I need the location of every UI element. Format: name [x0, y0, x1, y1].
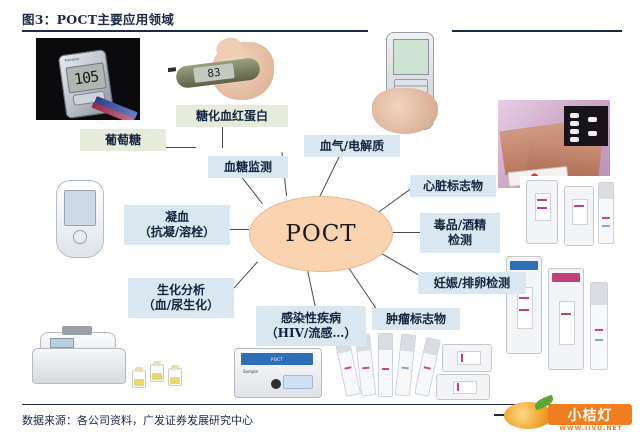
node-label-secondary: （抗凝/溶栓）: [139, 225, 215, 240]
photo-bench-analyzer: [26, 318, 138, 394]
node-hba1c[interactable]: 糖化血红蛋白: [176, 105, 288, 127]
film-band: [588, 131, 597, 136]
node-tumor-markers[interactable]: 肿瘤标志物: [372, 308, 460, 330]
glucometer-brand-text: Precision: [64, 57, 80, 63]
photo-pregnancy-cassette: [520, 176, 616, 248]
film-band: [570, 137, 579, 142]
handheld-display: 83: [193, 63, 235, 83]
center-label: POCT: [285, 221, 356, 247]
test-cassette: [564, 186, 594, 246]
node-glucose[interactable]: 葡萄糖: [80, 129, 166, 151]
node-blood-gas-electrolytes[interactable]: 血气/电解质: [304, 135, 400, 157]
test-cassette: [526, 180, 558, 244]
node-cardiac-markers[interactable]: 心脏标志物: [410, 175, 496, 197]
strip-test-line: [344, 366, 352, 369]
node-label: 凝血: [165, 210, 189, 225]
page-title: 图3：POCT主要应用领域: [22, 9, 174, 28]
strip-cap: [401, 334, 416, 351]
test-cassette: [548, 268, 584, 370]
coag-device-screen: [64, 190, 96, 226]
reagent-vial: [168, 368, 182, 386]
strip-control-line: [602, 225, 610, 227]
test-cassette: [506, 256, 542, 354]
node-label: 毒品/酒精: [434, 218, 486, 233]
analyzer-display: [50, 338, 74, 348]
analyzer-holding-hand: [372, 88, 438, 134]
watermark-url: WWW.IIVD.NET: [550, 425, 632, 432]
connector-line: [380, 252, 420, 276]
node-infectious-disease[interactable]: 感染性疾病 （HIV/流感…）: [256, 306, 366, 346]
analyzer-screen: [393, 39, 429, 75]
strip-test-line: [602, 217, 610, 219]
photo-glucometer: Precision 105: [36, 38, 140, 120]
photo-cartridge-reader: POCT Sample: [228, 340, 332, 402]
result-line: [519, 309, 529, 311]
strip-cap: [591, 283, 607, 305]
result-line: [457, 383, 459, 391]
diagram-center-node[interactable]: POCT: [249, 196, 393, 272]
node-label: 妊娠/排卵检测: [434, 276, 510, 291]
lateral-flow-strip: [395, 333, 416, 396]
node-label: 葡萄糖: [105, 133, 141, 148]
cartridge-result-window: [283, 375, 313, 389]
connector-line: [378, 186, 414, 213]
source-note: 数据来源：各公司资料，广发证券发展研究中心: [22, 412, 253, 428]
node-blood-glucose-monitoring[interactable]: 血糖监测: [208, 156, 288, 178]
lateral-flow-strip: [590, 282, 608, 370]
result-line: [561, 313, 571, 315]
strip-test-line: [362, 367, 369, 370]
connector-line: [347, 266, 377, 310]
coag-device-button: [73, 230, 87, 244]
photo-portable-analyzer: [368, 28, 452, 140]
result-line: [461, 354, 463, 362]
connector-line: [318, 156, 340, 200]
cartridge-body: POCT Sample: [234, 348, 322, 398]
strip-cap: [424, 338, 440, 355]
test-cassette: [442, 344, 492, 372]
photo-reagent-vials: [128, 352, 192, 396]
glucometer-display: 105: [66, 62, 107, 93]
test-cassette: [436, 374, 490, 400]
node-label: 生化分析: [157, 283, 205, 298]
cassette-window: [572, 199, 588, 225]
handheld-strip-port: [168, 67, 176, 73]
analyzer-base: [32, 348, 126, 384]
node-label: 肿瘤标志物: [386, 312, 446, 327]
cassette-brand-band: [510, 261, 538, 270]
reagent-vial: [150, 364, 164, 382]
strip-cap: [599, 183, 613, 199]
node-label: 血气/电解质: [320, 139, 384, 154]
cartridge-sample-well: [271, 379, 281, 389]
node-label: 血糖监测: [224, 160, 272, 175]
node-pregnancy-ovulation-test[interactable]: 妊娠/排卵检测: [418, 272, 526, 294]
result-line: [537, 199, 547, 201]
node-label: 糖化血红蛋白: [196, 109, 268, 124]
film-band: [570, 129, 579, 134]
cassette-window: [559, 301, 575, 345]
photo-cardiac-ecg: [498, 100, 610, 188]
reagent-vial: [132, 370, 146, 388]
strip-control-line: [401, 367, 408, 370]
node-label-secondary: 检测: [448, 233, 472, 248]
analyzer-lid: [62, 326, 92, 335]
photo-coagulation-device: [40, 176, 122, 260]
cartridge-brand-label: POCT: [241, 353, 313, 365]
node-drug-alcohol-testing[interactable]: 毒品/酒精 检测: [420, 213, 500, 253]
cassette-brand-band: [552, 273, 580, 282]
node-label-secondary: （HIV/流感…）: [266, 326, 357, 341]
result-line: [574, 205, 584, 207]
node-label: 感染性疾病: [281, 311, 341, 326]
photo-handheld-meter: 83: [168, 36, 276, 106]
watermark-name: 小桔灯: [548, 404, 632, 425]
cartridge-sample-text: Sample: [243, 369, 258, 374]
lateral-flow-strip: [598, 182, 614, 244]
film-band: [570, 121, 579, 126]
strip-control-line: [595, 339, 604, 341]
film-band: [588, 117, 597, 122]
strip-test-line: [595, 329, 604, 331]
strip-test-line: [382, 368, 389, 370]
film-band: [570, 113, 579, 118]
node-biochemical-analysis[interactable]: 生化分析 （血/尿生化）: [128, 278, 234, 318]
node-coagulation[interactable]: 凝血 （抗凝/溶栓）: [124, 205, 230, 245]
node-label-secondary: （血/尿生化）: [143, 298, 219, 313]
ecg-film-panel: [564, 106, 608, 146]
result-line: [519, 297, 529, 299]
node-label: 心脏标志物: [423, 179, 483, 194]
header-divider: [22, 30, 622, 32]
figure-page: 图3：POCT主要应用领域 Precision 105 83: [0, 0, 644, 435]
strip-test-line: [424, 366, 432, 369]
lateral-flow-strip: [378, 333, 393, 397]
watermark: 小桔灯 WWW.IIVD.NET: [494, 398, 640, 434]
result-line: [537, 207, 547, 209]
strip-cap: [379, 334, 392, 350]
